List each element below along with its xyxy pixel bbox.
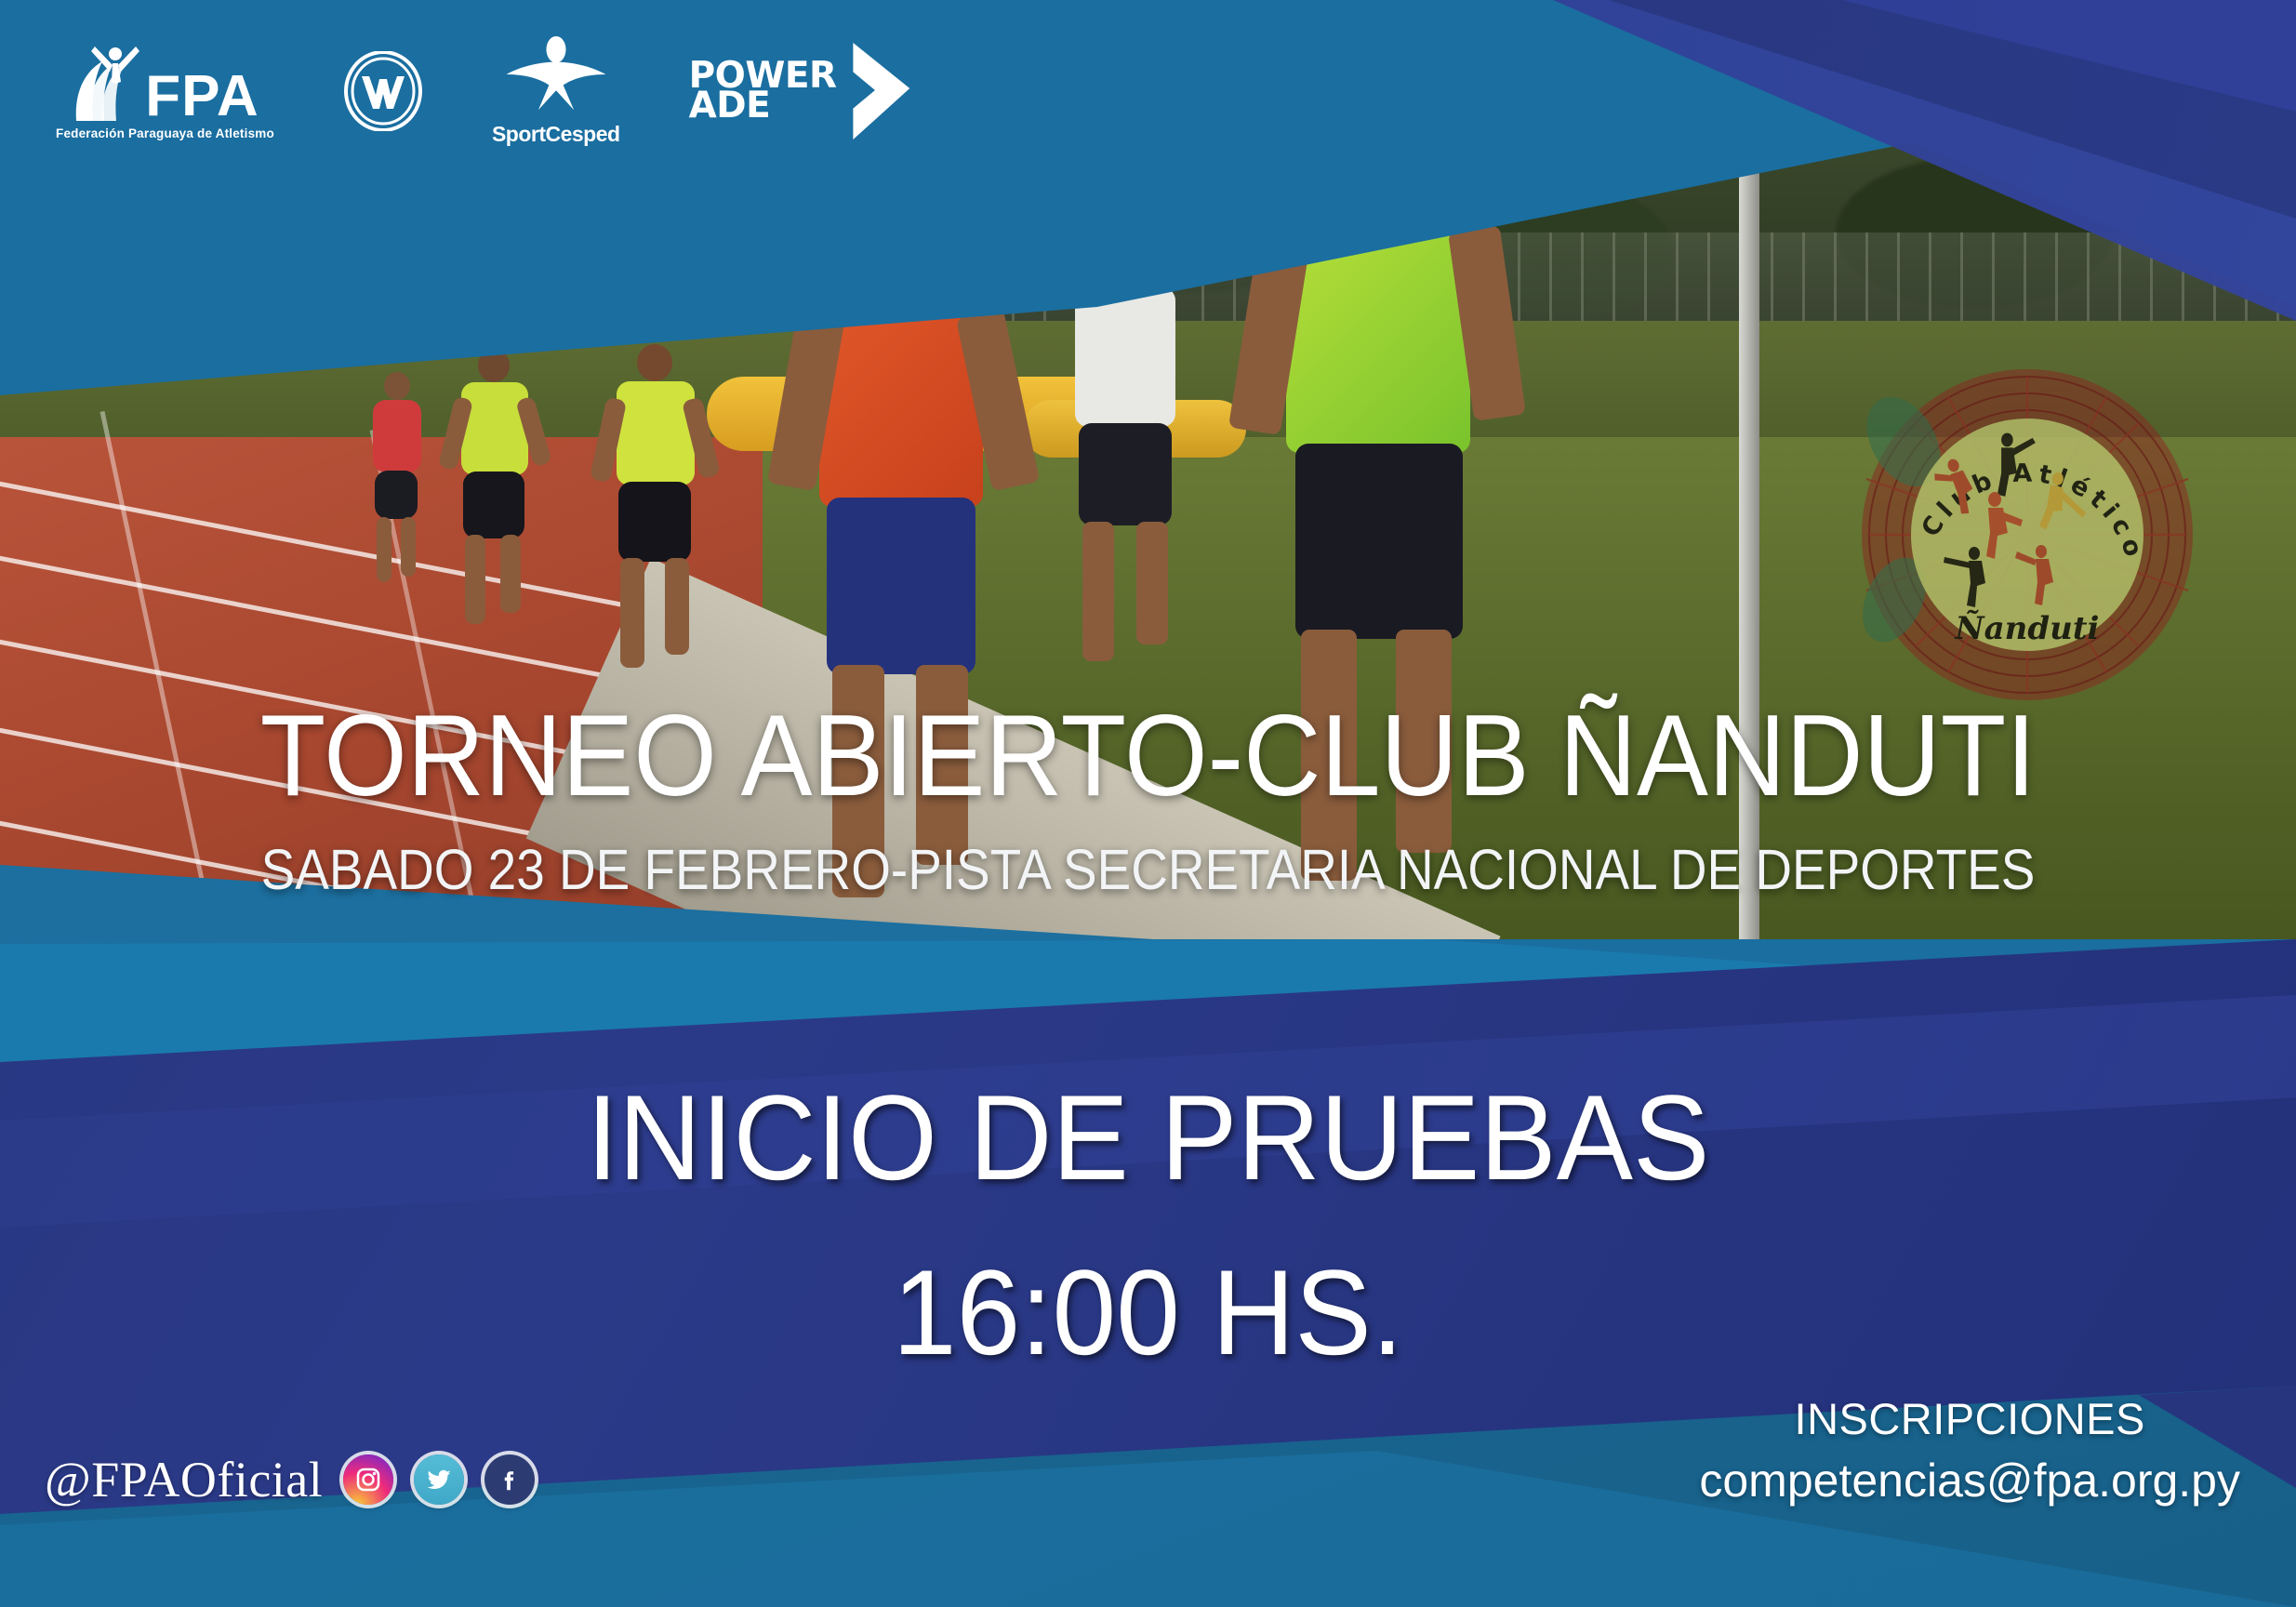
start-time: 16:00 HS. [58, 1242, 2239, 1382]
sportcesped-wordmark: SportCesped [492, 122, 620, 147]
sponsor-sportcesped: SportCesped [492, 35, 620, 147]
registration-heading: INSCRIPCIONES [1699, 1393, 2240, 1444]
registration-email[interactable]: competencias@fpa.org.py [1699, 1454, 2240, 1507]
powerade-arrow-icon [822, 41, 922, 141]
fpa-tagline: Federación Paraguaya de Atletismo [56, 126, 274, 140]
twitter-icon[interactable] [414, 1454, 464, 1505]
registration-block: INSCRIPCIONES competencias@fpa.org.py [1699, 1393, 2240, 1507]
event-title: TORNEO ABIERTO-CLUB ÑANDUTI [80, 690, 2215, 822]
event-poster: Club Atlético [0, 0, 2296, 1607]
sponsor-fpa: FPA Federación Paraguaya de Atletismo [56, 41, 274, 140]
club-atletico-nanduti-logo-icon: Club Atlético [1837, 367, 2218, 711]
facebook-icon[interactable] [484, 1454, 535, 1505]
social-bar: @FPAOficial [45, 1451, 535, 1508]
sportcesped-logo-icon [501, 35, 611, 120]
sponsor-volkswagen [343, 51, 423, 131]
instagram-icon[interactable] [343, 1454, 393, 1505]
svg-text:Ñanduti: Ñanduti [1955, 610, 2100, 647]
start-label: INICIO DE PRUEBAS [58, 1068, 2239, 1207]
powerade-logo-icon: POWER ADE [689, 61, 837, 121]
fpa-logo-icon [71, 41, 143, 123]
fpa-acronym: FPA [145, 70, 259, 123]
sponsor-logo-bar: FPA Federación Paraguaya de Atletismo [56, 28, 922, 153]
event-subtitle: SABADO 23 DE FEBRERO-PISTA SECRETARIA NA… [114, 837, 2181, 902]
social-handle: @FPAOficial [45, 1451, 323, 1508]
sponsor-powerade: POWER ADE [689, 41, 922, 141]
volkswagen-logo-icon [343, 51, 423, 131]
